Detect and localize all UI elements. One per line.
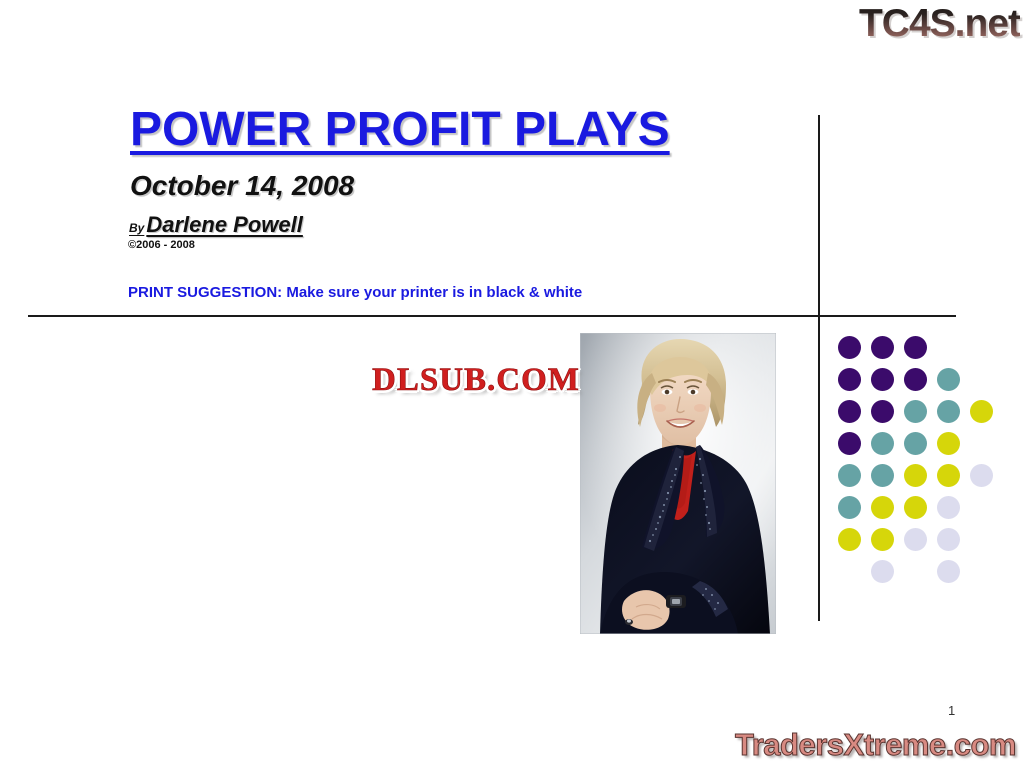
grid-dot xyxy=(838,464,861,487)
grid-dot xyxy=(970,400,993,423)
grid-dot xyxy=(904,496,927,519)
grid-dot xyxy=(838,336,861,359)
grid-dot xyxy=(937,400,960,423)
grid-dot xyxy=(904,400,927,423)
grid-dot xyxy=(871,432,894,455)
tc4s-logo: TC4S.net xyxy=(859,2,1020,46)
byline-by-label: By xyxy=(129,221,144,235)
grid-dot xyxy=(871,368,894,391)
decorative-dot-grid xyxy=(838,336,1008,586)
byline: ByDarlene Powell xyxy=(129,212,303,241)
grid-dot xyxy=(871,560,894,583)
grid-dot xyxy=(838,400,861,423)
grid-dot xyxy=(904,368,927,391)
grid-dot xyxy=(904,432,927,455)
grid-dot xyxy=(838,496,861,519)
grid-dot xyxy=(904,528,927,551)
grid-dot xyxy=(937,432,960,455)
copyright-notice: ©2006 - 2008 xyxy=(128,238,195,252)
vertical-divider xyxy=(818,115,820,621)
grid-dot xyxy=(871,496,894,519)
print-suggestion-note: PRINT SUGGESTION: Make sure your printer… xyxy=(128,283,582,302)
grid-dot xyxy=(970,464,993,487)
presentation-date: October 14, 2008 xyxy=(130,170,354,202)
grid-dot xyxy=(838,432,861,455)
grid-dot xyxy=(937,560,960,583)
grid-dot xyxy=(937,368,960,391)
grid-dot xyxy=(871,336,894,359)
grid-dot xyxy=(904,464,927,487)
grid-dot xyxy=(904,336,927,359)
grid-dot xyxy=(937,528,960,551)
byline-author: Darlene Powell xyxy=(146,212,303,237)
grid-dot xyxy=(838,368,861,391)
page-title: POWER PROFIT PLAYS xyxy=(130,104,670,156)
grid-dot xyxy=(871,464,894,487)
grid-dot xyxy=(838,528,861,551)
author-portrait-photo xyxy=(580,333,776,634)
grid-dot xyxy=(871,528,894,551)
grid-dot xyxy=(937,464,960,487)
slide-canvas: TC4S.net TC4S.net POWER PROFIT PLAYS Oct… xyxy=(0,0,1024,768)
dlsub-watermark: DLSUB.COM xyxy=(372,360,580,400)
horizontal-divider xyxy=(28,315,956,317)
page-number: 1 xyxy=(948,703,955,718)
tradersxtreme-logo: TradersXtreme.com xyxy=(735,726,1016,764)
portrait-illustration xyxy=(580,333,776,634)
grid-dot xyxy=(937,496,960,519)
grid-dot xyxy=(871,400,894,423)
